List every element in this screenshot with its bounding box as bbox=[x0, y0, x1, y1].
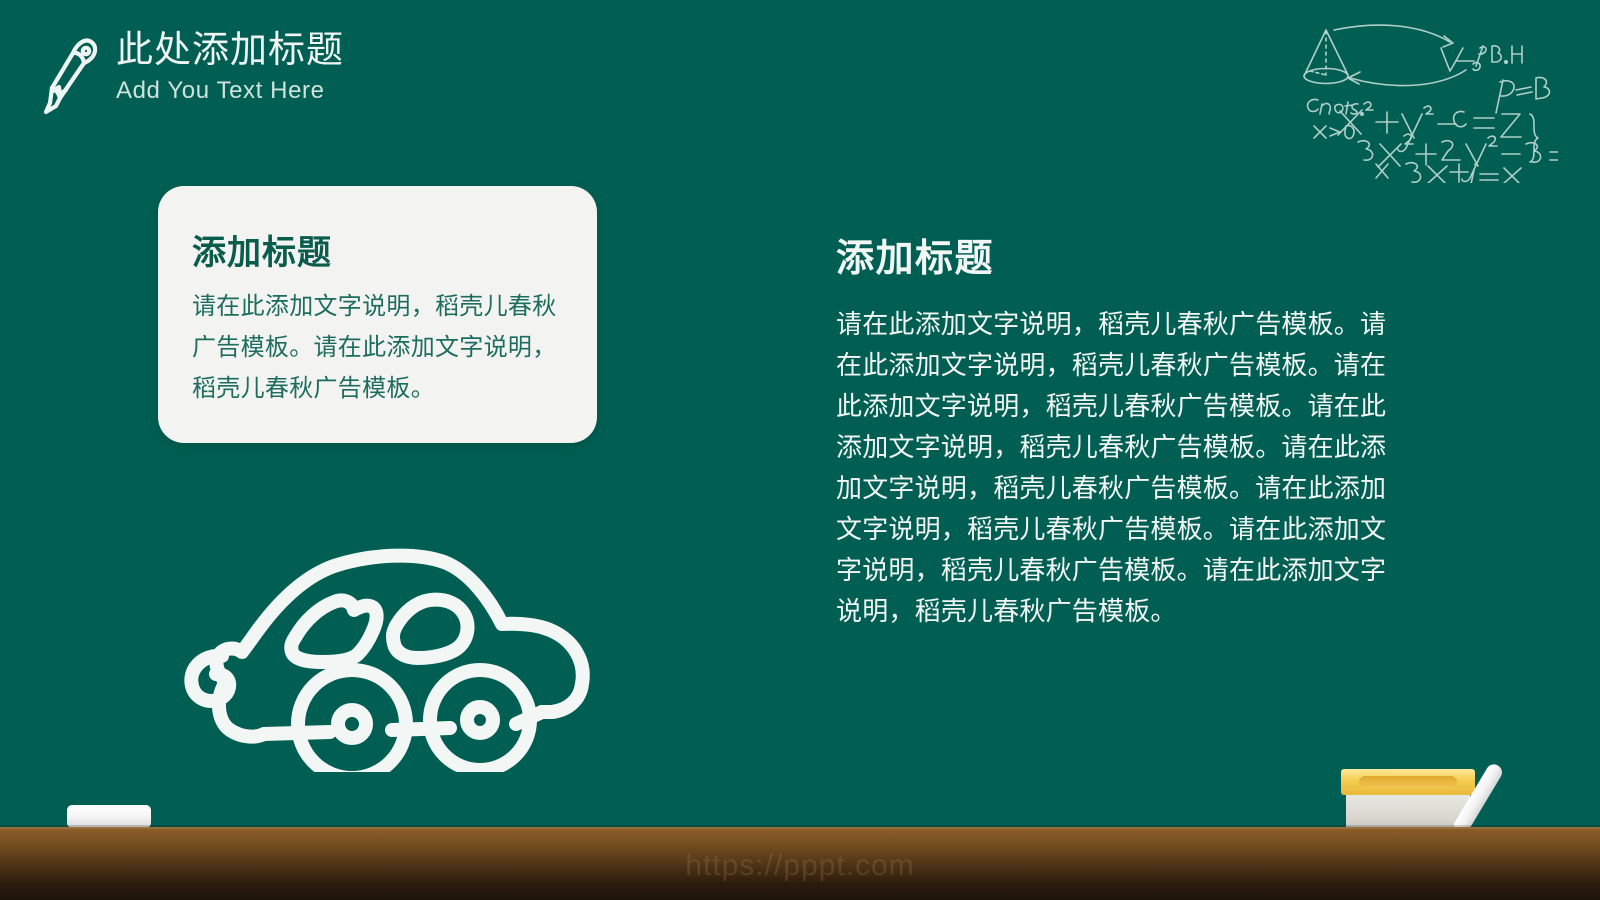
right-column-body-text: 请在此添加文字说明，稻壳儿春秋广告模板。请在此添加文字说明，稻壳儿春秋广告模板。… bbox=[836, 304, 1392, 632]
car-illustration bbox=[138, 524, 618, 772]
eraser-groove bbox=[1359, 776, 1457, 788]
watermark: https://pppt.com bbox=[0, 849, 1600, 883]
card-title: 添加标题 bbox=[192, 234, 332, 272]
chalk-doodle bbox=[1288, 18, 1558, 183]
info-card: 添加标题 请在此添加文字说明，稻壳儿春秋广告模板。请在此添加文字说明，稻壳儿春秋… bbox=[158, 186, 597, 443]
chalk-stick-left[interactable] bbox=[67, 805, 151, 828]
eraser-felt bbox=[1346, 791, 1470, 827]
blackboard-eraser[interactable] bbox=[1341, 769, 1475, 827]
blackboard: 此处添加标题 Add You Text Here bbox=[0, 0, 1600, 828]
pencil-icon bbox=[40, 32, 102, 117]
page-title: 此处添加标题 bbox=[116, 28, 344, 72]
right-column-title: 添加标题 bbox=[836, 236, 1392, 282]
right-column: 添加标题 请在此添加文字说明，稻壳儿春秋广告模板。请在此添加文字说明，稻壳儿春秋… bbox=[836, 236, 1392, 632]
header: 此处添加标题 Add You Text Here bbox=[40, 28, 344, 117]
page-subtitle: Add You Text Here bbox=[116, 76, 344, 106]
eraser-handle bbox=[1341, 769, 1475, 795]
wooden-ledge: https://pppt.com bbox=[0, 827, 1600, 900]
card-body-text: 请在此添加文字说明，稻壳儿春秋广告模板。请在此添加文字说明，稻壳儿春秋广告模板。 bbox=[192, 286, 570, 409]
